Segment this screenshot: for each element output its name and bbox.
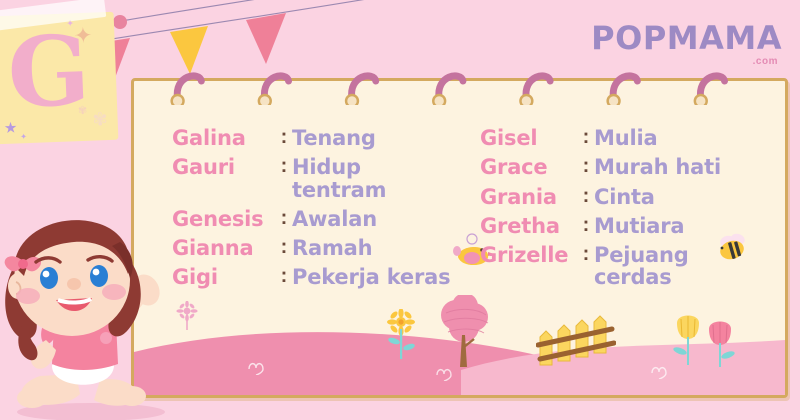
flower-icon: ✾ <box>78 106 88 117</box>
meaning-label: Mulia <box>594 127 657 149</box>
meaning-label: Ramah <box>292 237 372 259</box>
name-row: Gauri : Hidup tentram <box>172 156 462 201</box>
tulip-icon <box>671 307 741 369</box>
separator-colon: : <box>276 208 292 229</box>
name-row: Grace : Murah hati <box>480 156 762 178</box>
tree-icon <box>434 295 494 367</box>
name-row: Galina : Tenang <box>172 127 462 149</box>
name-label: Gisel <box>480 127 578 149</box>
meaning-label: Pejuangcerdas <box>594 244 689 289</box>
star-icon: ★ <box>4 120 18 136</box>
meaning-label: Awalan <box>292 208 377 230</box>
notebook-page: Galina : Tenang Gauri : Hidup tentram Ge… <box>131 78 788 398</box>
separator-colon: : <box>578 186 594 207</box>
name-label: Gigi <box>172 266 276 288</box>
meaning-label: Murah hati <box>594 156 721 178</box>
separator-colon: : <box>276 266 292 287</box>
name-label: Galina <box>172 127 276 149</box>
name-list: Galina : Tenang Gauri : Hidup tentram Ge… <box>162 127 762 296</box>
separator-colon: : <box>578 244 594 265</box>
brand-logo[interactable]: POPMAMA .com <box>591 22 782 67</box>
heart-doodle-icon <box>246 359 272 375</box>
separator-colon: : <box>276 156 292 177</box>
meaning-label: Hidup tentram <box>292 156 462 201</box>
name-row: Grizelle : Pejuangcerdas <box>480 244 762 289</box>
name-label: Grace <box>480 156 578 178</box>
name-label: Genesis <box>172 208 276 230</box>
meaning-label: Tenang <box>292 127 376 149</box>
star-icon: ✦ <box>20 133 27 141</box>
meaning-line-2: cerdas <box>594 266 689 288</box>
name-row: Genesis : Awalan <box>172 208 462 230</box>
star-icon: ✦ <box>74 25 93 48</box>
fence-icon <box>536 313 616 369</box>
meaning-label: Cinta <box>594 186 655 208</box>
letter-card: G ✦ ✦ ✾ ✾ ★ ✦ <box>0 12 118 145</box>
name-label: Grizelle <box>480 244 578 266</box>
brand-name: POPMAMA <box>591 22 782 54</box>
name-label: Gauri <box>172 156 276 178</box>
separator-colon: : <box>578 127 594 148</box>
star-icon: ✦ <box>66 19 74 28</box>
flower-icon <box>384 309 418 361</box>
separator-colon: : <box>276 237 292 258</box>
name-row: Grania : Cinta <box>480 186 762 208</box>
separator-colon: : <box>578 215 594 236</box>
separator-colon: : <box>578 156 594 177</box>
heart-doodle-icon <box>434 365 460 381</box>
spiral-binding <box>134 65 785 105</box>
name-row: Gisel : Mulia <box>480 127 762 149</box>
name-row: Gretha : Mutiara <box>480 215 762 237</box>
name-column-left: Galina : Tenang Gauri : Hidup tentram Ge… <box>162 127 462 296</box>
heart-doodle-icon <box>649 363 675 379</box>
poster-canvas: G ✦ ✦ ✾ ✾ ★ ✦ POPMAMA .com <box>0 0 800 420</box>
name-label: Gianna <box>172 237 276 259</box>
name-row: Gigi : Pekerja keras <box>172 266 462 288</box>
name-label: Gretha <box>480 215 578 237</box>
name-column-right: Gisel : Mulia Grace : Murah hati Grania … <box>462 127 762 296</box>
meaning-line-1: Pejuang <box>594 243 689 267</box>
flower-icon: ✾ <box>92 110 108 129</box>
baby-character <box>0 204 186 420</box>
meaning-label: Pekerja keras <box>292 266 450 288</box>
name-row: Gianna : Ramah <box>172 237 462 259</box>
separator-colon: : <box>276 127 292 148</box>
name-label: Grania <box>480 186 578 208</box>
meaning-label: Mutiara <box>594 215 684 237</box>
